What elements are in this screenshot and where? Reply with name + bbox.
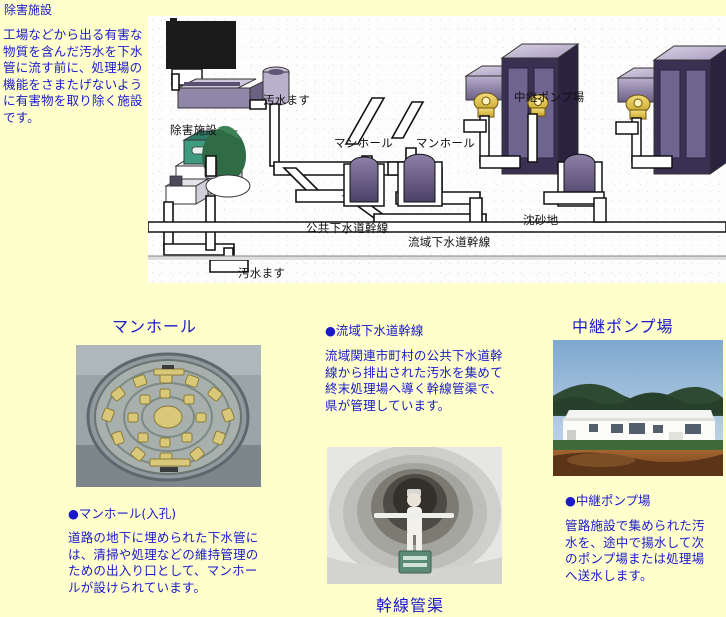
right-column-bullet-title: ●中継ポンプ場 [565,490,651,509]
diagram-label-ryuiki-kansen: 流域下水道幹線 [408,234,491,250]
intro-paragraph: 工場などから出る有害な物質を含んだ汚水を下水管に流す前に、処理場の機能をさまたげ… [3,27,143,127]
left-column-body: 道路の地下に埋められた下水管には、清掃や処理などの維持管理のための出入り口として… [68,530,268,596]
center-column-caption: 幹線管渠 [376,592,444,616]
right-column-heading: 中継ポンプ場 [572,313,674,337]
diagram-label-osui-masu-top: 汚水ます [263,92,310,108]
diagram-label-osui-masu-bottom: 汚水ます [238,265,285,281]
sewerage-system-diagram: 除害施設 汚水ます 汚水ます マンホール マンホール 公共下水道幹線 流域下水道… [148,16,726,283]
diagram-label-jogai-shisetsu: 除害施設 [170,122,217,138]
pump-station-photo [553,340,723,476]
diagram-label-chinsachi: 沈砂地 [523,212,558,228]
diagram-label-manhole-2: マンホール [416,135,475,151]
page-root: 除害施設 工場などから出る有害な物質を含んだ汚水を下水管に流す前に、処理場の機能… [0,0,726,617]
diagram-label-koukyo-kansen: 公共下水道幹線 [306,220,389,236]
center-column-bullet-title: ●流域下水道幹線 [325,320,423,339]
page-title: 除害施設 [4,1,52,18]
right-column-body: 管路施設で集められた汚水を、途中で揚水して次のポンプ場または処理場へ送水します。 [565,518,715,584]
sewer-tunnel-photo [327,447,502,584]
center-column-body: 流域関連市町村の公共下水道幹線から排出された汚水を集めて終末処理場へ導く幹線管渠… [325,348,507,414]
left-column-heading: マンホール [112,313,197,337]
manhole-cover-photo [76,345,261,487]
left-column-bullet-title: ●マンホール(入孔) [68,503,176,522]
diagram-label-chukei-pump: 中継ポンプ場 [514,89,584,105]
diagram-label-manhole-1: マンホール [334,135,393,151]
